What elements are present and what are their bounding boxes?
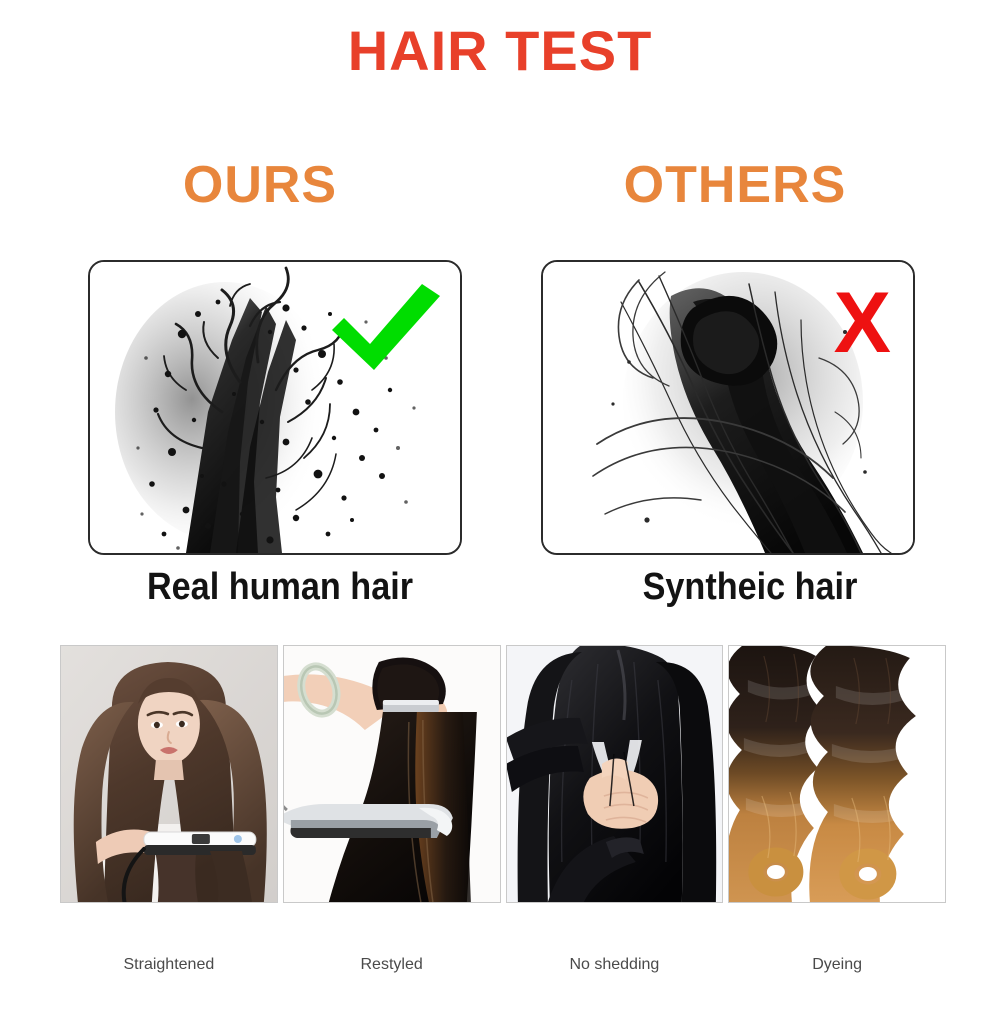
caption-no-shedding: No shedding bbox=[506, 955, 724, 983]
comparison-heading-others: OTHERS bbox=[500, 158, 970, 213]
caption-real-human-hair: Real human hair bbox=[28, 567, 532, 609]
caption-synthetic-hair: Syntheic hair bbox=[525, 567, 975, 609]
photo-no-shedding bbox=[506, 645, 724, 903]
photo-dyeing bbox=[728, 645, 946, 903]
burn-test-panel-ours bbox=[88, 260, 462, 555]
caption-dyeing: Dyeing bbox=[728, 955, 946, 983]
caption-straightened: Straightened bbox=[60, 955, 278, 983]
green-check-icon bbox=[326, 282, 446, 372]
caption-restyled: Restyled bbox=[283, 955, 501, 983]
photo-strip-captions: Straightened Restyled No shedding Dyeing bbox=[60, 955, 946, 983]
page-title: HAIR TEST bbox=[0, 22, 1000, 81]
burn-test-panel-others: X bbox=[541, 260, 915, 555]
photo-restyled bbox=[283, 645, 501, 903]
photo-straightened bbox=[60, 645, 278, 903]
red-cross-icon: X bbox=[834, 280, 891, 366]
comparison-heading-ours: OURS bbox=[0, 158, 520, 213]
photo-strip bbox=[60, 645, 946, 903]
